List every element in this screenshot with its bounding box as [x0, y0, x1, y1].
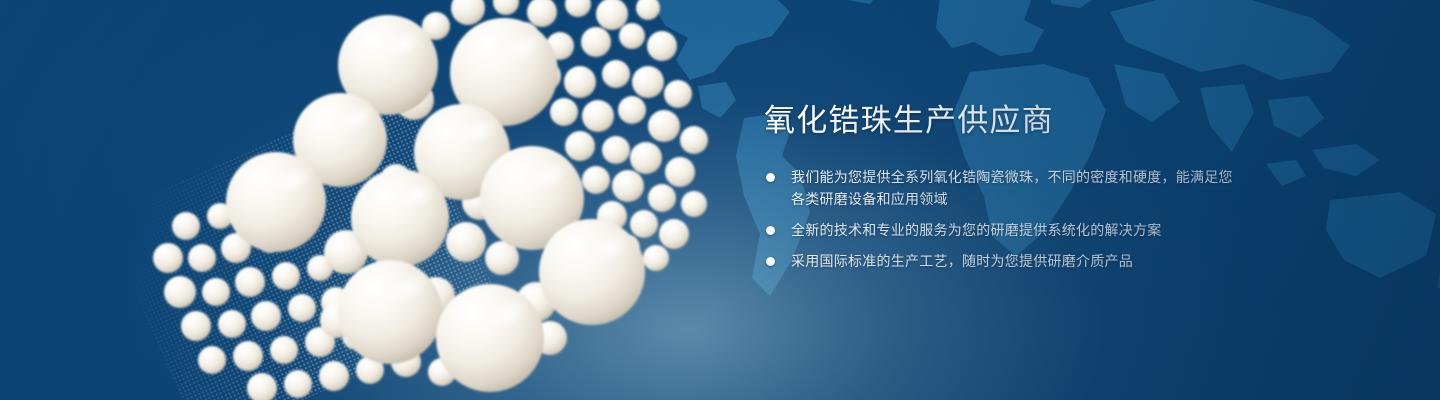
- list-item-text: 全新的技术和专业的服务为您的研磨提供系统化的解决方案: [791, 222, 1162, 238]
- hero-banner: 氧化锆珠生产供应商 我们能为您提供全系列氧化锆陶瓷微珠，不同的密度和硬度，能满足…: [0, 0, 1440, 400]
- list-item: 我们能为您提供全系列氧化锆陶瓷微珠，不同的密度和硬度，能满足您各类研磨设备和应用…: [764, 166, 1234, 210]
- list-item-text: 我们能为您提供全系列氧化锆陶瓷微珠，不同的密度和硬度，能满足您各类研磨设备和应用…: [791, 169, 1233, 207]
- bullet-dot-icon: [766, 226, 775, 235]
- page-title: 氧化锆珠生产供应商: [764, 104, 1234, 138]
- list-item-text: 采用国际标准的生产工艺，随时为您提供研磨介质产品: [791, 253, 1133, 269]
- banner-copy: 氧化锆珠生产供应商 我们能为您提供全系列氧化锆陶瓷微珠，不同的密度和硬度，能满足…: [764, 104, 1234, 272]
- bullet-dot-icon: [766, 173, 775, 182]
- bullet-dot-icon: [766, 257, 775, 266]
- feature-list: 我们能为您提供全系列氧化锆陶瓷微珠，不同的密度和硬度，能满足您各类研磨设备和应用…: [764, 166, 1234, 272]
- list-item: 全新的技术和专业的服务为您的研磨提供系统化的解决方案: [764, 219, 1234, 241]
- list-item: 采用国际标准的生产工艺，随时为您提供研磨介质产品: [764, 250, 1234, 272]
